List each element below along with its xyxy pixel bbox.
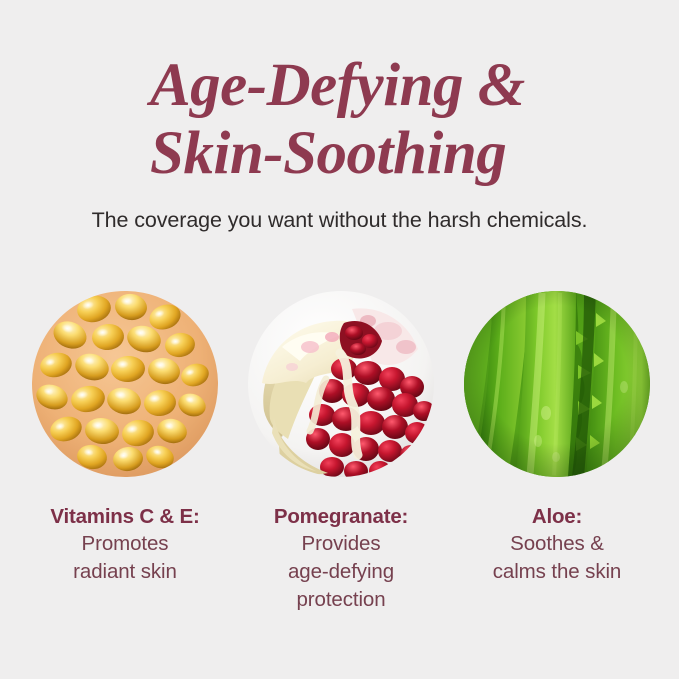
ingredient-caption-pomegranate: Pomegranate: Provides age-defying protec… bbox=[233, 503, 449, 614]
caption-title: Pomegranate: bbox=[233, 503, 449, 530]
caption-line: Provides bbox=[233, 530, 449, 558]
caption-line: Soothes & bbox=[449, 530, 665, 558]
headline-line-2: Skin-Soothing bbox=[150, 120, 670, 188]
caption-title: Aloe: bbox=[449, 503, 665, 530]
caption-line: radiant skin bbox=[17, 558, 233, 586]
caption-line: calms the skin bbox=[449, 558, 665, 586]
caption-line: Promotes bbox=[17, 530, 233, 558]
caption-line: age-defying bbox=[233, 558, 449, 586]
headline-line-1: Age-Defying & bbox=[150, 52, 525, 119]
subtitle: The coverage you want without the harsh … bbox=[0, 206, 679, 234]
caption-title: Vitamins C & E: bbox=[17, 503, 233, 530]
vitamin-capsules-photo bbox=[32, 291, 218, 477]
ingredient-caption-vitamins: Vitamins C & E: Promotes radiant skin bbox=[17, 503, 233, 586]
page-title: Age-Defying & Skin-Soothing bbox=[150, 52, 670, 188]
ingredient-benefits-infographic: Age-Defying & Skin-Soothing The coverage… bbox=[0, 0, 679, 679]
ingredient-image-row bbox=[0, 291, 679, 479]
aloe-vera-photo bbox=[464, 291, 650, 477]
pomegranate-photo bbox=[248, 291, 434, 477]
ingredient-caption-aloe: Aloe: Soothes & calms the skin bbox=[449, 503, 665, 586]
caption-line: protection bbox=[233, 586, 449, 614]
